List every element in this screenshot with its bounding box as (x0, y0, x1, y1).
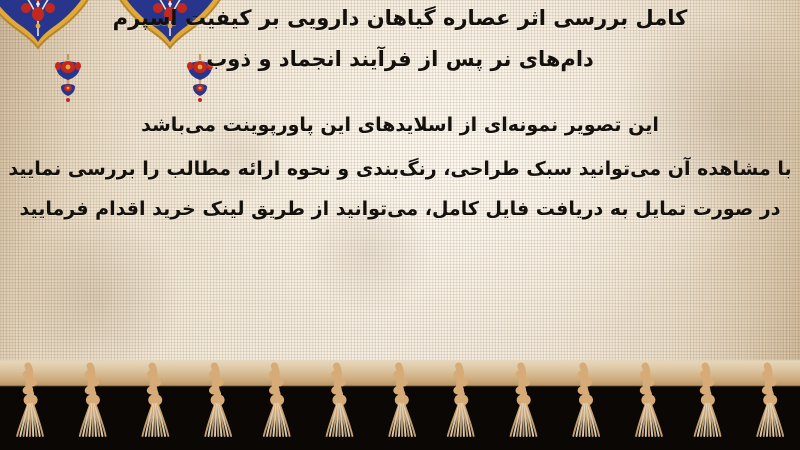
slide-canvas: کامل بررسی اثر عصاره گیاهان دارویی بر کی… (0, 0, 800, 450)
slide-title-line-2: دام‌های نر پس از فرآیند انجماد و ذوب (0, 47, 800, 71)
slide-body-line-2: با مشاهده آن می‌توانید سبک طراحی، رنگ‌بن… (0, 158, 800, 180)
slide-body-line-1: این تصویر نمونه‌ای از اسلایدهای این پاور… (0, 114, 800, 136)
slide-title-line-1: کامل بررسی اثر عصاره گیاهان دارویی بر کی… (0, 6, 800, 30)
carpet-fringe-tassels (0, 360, 800, 450)
slide-body-line-3: در صورت تمایل به دریافت فایل کامل، می‌تو… (0, 198, 800, 220)
